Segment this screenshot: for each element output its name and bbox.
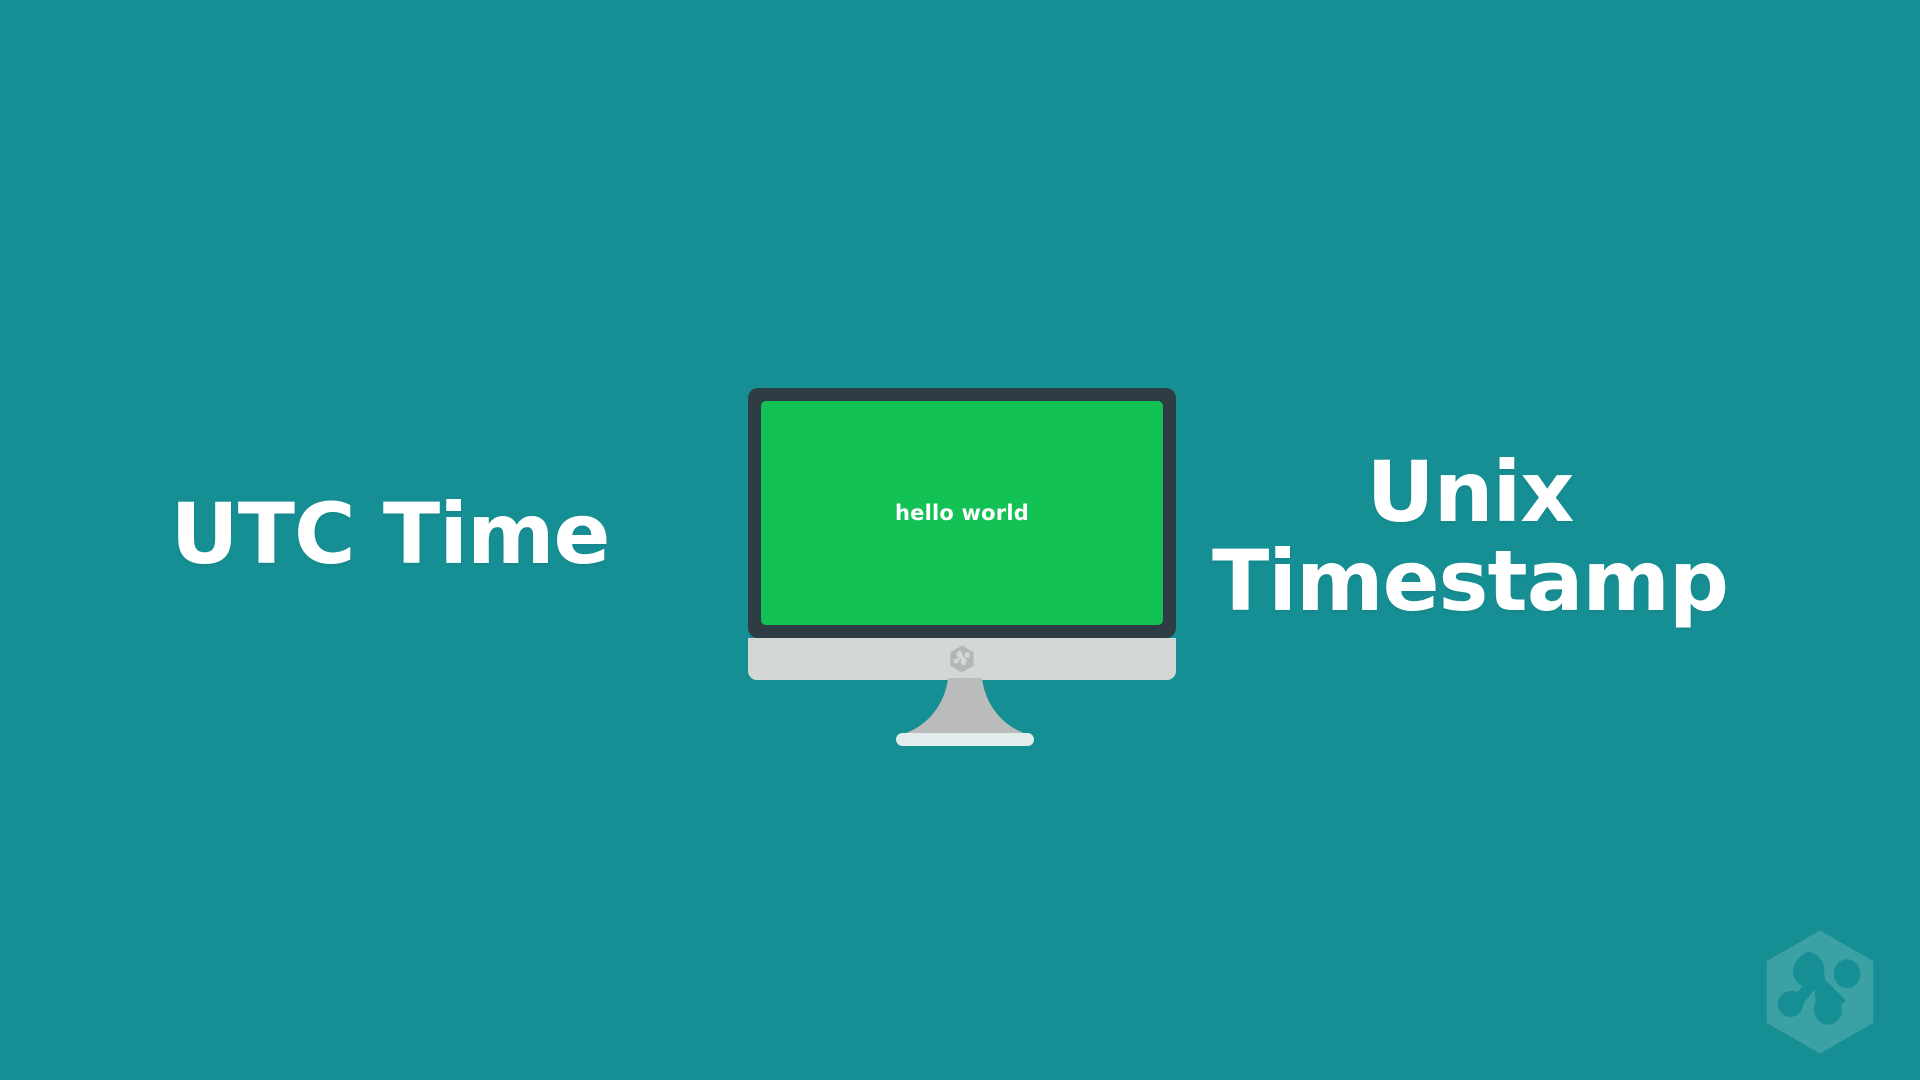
monitor-stand-neck	[890, 678, 1040, 740]
utc-time-label: UTC Time	[130, 490, 650, 579]
monitor-chin	[748, 638, 1176, 680]
monitor-illustration: hello world	[748, 388, 1176, 680]
monitor-stand-base	[896, 733, 1034, 746]
hex-splat-logo-icon	[1756, 928, 1884, 1056]
hex-splat-logo-icon	[949, 645, 975, 673]
unix-timestamp-label: Unix Timestamp	[1210, 448, 1730, 626]
monitor-screen: hello world	[761, 401, 1163, 625]
monitor-bezel: hello world	[748, 388, 1176, 638]
slide-canvas: UTC Time Unix Timestamp hello world	[0, 0, 1920, 1080]
screen-text: hello world	[895, 501, 1029, 525]
